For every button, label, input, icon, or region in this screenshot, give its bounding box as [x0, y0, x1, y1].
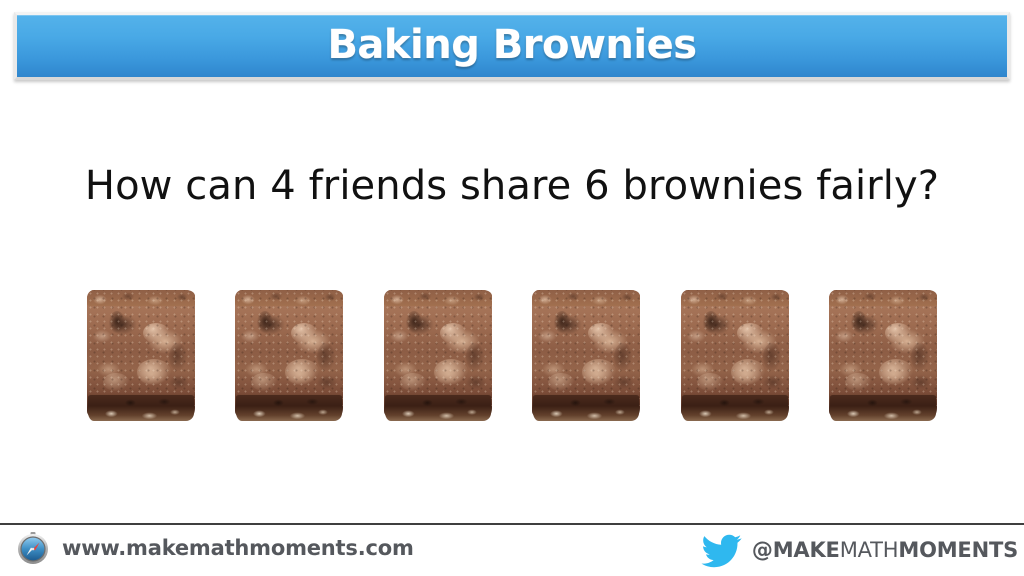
- brownie-bottom-crust: [533, 395, 639, 421]
- brownie-image-6: [827, 287, 939, 423]
- brownie-image-3: [382, 287, 494, 423]
- handle-part-moments: MOMENTS: [898, 538, 1018, 562]
- brownie-image-5: [679, 287, 791, 423]
- title-banner: Baking Brownies: [14, 12, 1010, 80]
- website-url-text: www.makemathmoments.com: [62, 536, 414, 560]
- brownie-image-1: [85, 287, 197, 423]
- slide-canvas: Baking Brownies How can 4 friends share …: [0, 0, 1024, 576]
- question-text: How can 4 friends share 6 brownies fairl…: [0, 163, 1024, 209]
- footer: www.makemathmoments.com @MAKEMATHMOMENTS: [0, 525, 1024, 576]
- brownie-bottom-crust: [682, 395, 788, 421]
- handle-part-math: MATH: [840, 538, 899, 562]
- twitter-handle-text: @MAKEMATHMOMENTS: [752, 538, 1018, 562]
- compass-icon: [16, 531, 50, 565]
- brownie-bottom-crust: [88, 395, 194, 421]
- website-link[interactable]: www.makemathmoments.com: [16, 531, 414, 565]
- brownie-bottom-crust: [385, 395, 491, 421]
- brownie-bottom-crust: [830, 395, 936, 421]
- twitter-handle-link[interactable]: @MAKEMATHMOMENTS: [699, 532, 1018, 568]
- page-title: Baking Brownies: [327, 25, 696, 65]
- handle-part-make: @MAKE: [752, 538, 840, 562]
- brownie-row: [85, 287, 939, 423]
- brownie-bottom-crust: [236, 395, 342, 421]
- twitter-bird-icon: [699, 532, 743, 568]
- brownie-image-4: [530, 287, 642, 423]
- brownie-image-2: [233, 287, 345, 423]
